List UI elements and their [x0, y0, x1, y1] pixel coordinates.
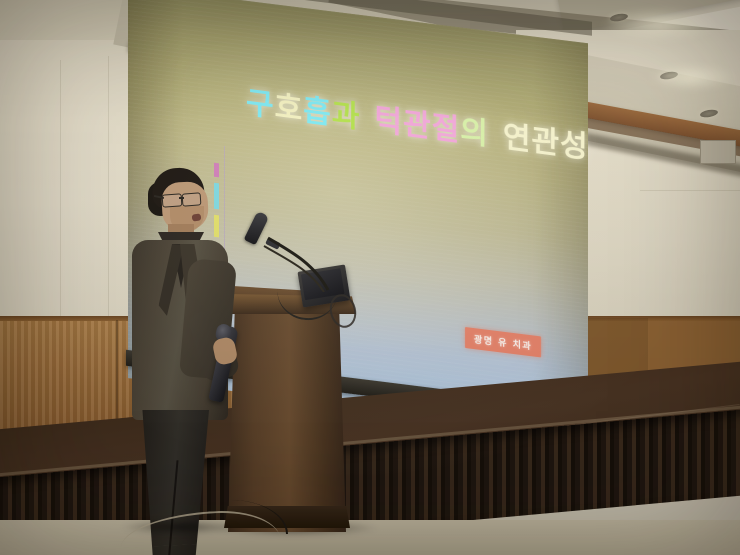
- slide-title-char-9: 연: [503, 111, 532, 159]
- slide-title-space: [360, 128, 374, 130]
- wall-seam-a: [60, 60, 61, 318]
- wall-speaker-box: [700, 140, 736, 164]
- slide-title-char-3: 흡: [303, 85, 332, 133]
- eyeglasses-bridge: [179, 197, 184, 199]
- lecture-hall-photo: 구호흡과턱관절의연관성 광명 유 치과: [0, 0, 740, 555]
- wall-seam-c: [640, 190, 740, 191]
- slide-title-char-5: 턱: [374, 94, 403, 142]
- eyeglasses-left-lens: [162, 193, 183, 207]
- presenter: [118, 160, 248, 540]
- slide-title-char-8: 의: [460, 106, 489, 154]
- slide-title-char-6: 관: [403, 98, 432, 146]
- eyeglasses-right-lens: [182, 192, 202, 206]
- downlight-glow-2: [648, 64, 738, 90]
- slide-title-char-11: 성: [560, 119, 589, 167]
- wall-seam-b: [108, 56, 109, 318]
- slide-title-char-7: 절: [432, 102, 461, 150]
- gooseneck-microphone-arm: [262, 212, 340, 292]
- slide-title-char-10: 관: [531, 115, 560, 163]
- slide-title-char-2: 호: [274, 81, 303, 129]
- slide-title-char-1: 구: [246, 78, 275, 126]
- slide-title-space-2: [489, 144, 503, 146]
- slide-title-char-4: 과: [332, 89, 361, 137]
